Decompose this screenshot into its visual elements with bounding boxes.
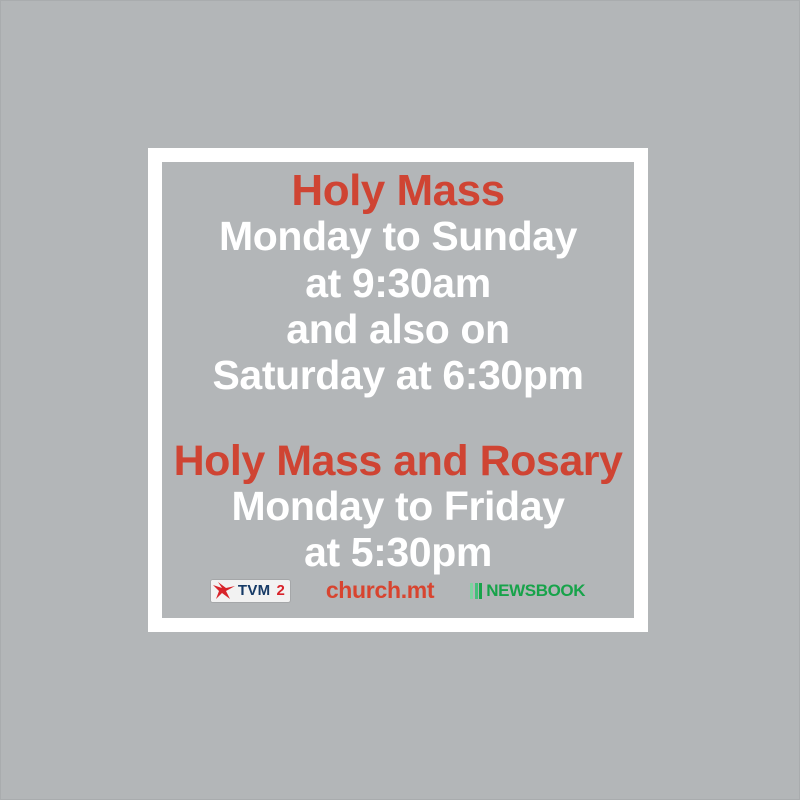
holy-mass-line-2: at 9:30am <box>162 260 634 306</box>
holy-mass-line-1: Monday to Sunday <box>162 213 634 259</box>
section-holy-mass: Holy Mass Monday to Sunday at 9:30am and… <box>162 168 634 399</box>
rosary-line-1: Monday to Friday <box>162 483 634 529</box>
section-heading-holy-mass: Holy Mass <box>162 168 634 213</box>
tvm-star-icon <box>211 580 237 602</box>
tvm-2-logo[interactable]: TVM 2 <box>211 580 290 602</box>
tvm-channel-number: 2 <box>273 580 289 602</box>
holy-mass-line-4: Saturday at 6:30pm <box>162 352 634 398</box>
logo-strip: TVM 2 church.mt NEWSBOOK <box>162 579 634 602</box>
poster-content: Holy Mass Monday to Sunday at 9:30am and… <box>162 162 634 618</box>
rosary-line-2: at 5:30pm <box>162 529 634 575</box>
section-holy-mass-and-rosary: Holy Mass and Rosary Monday to Friday at… <box>162 439 634 576</box>
tvm-wordmark: TVM <box>237 580 274 602</box>
newsbook-wordmark: NEWSBOOK <box>486 582 585 599</box>
newsbook-bars-icon <box>470 583 482 599</box>
mass-schedule-poster: Holy Mass Monday to Sunday at 9:30am and… <box>0 0 800 800</box>
holy-mass-line-3: and also on <box>162 306 634 352</box>
newsbook-logo[interactable]: NEWSBOOK <box>470 582 585 599</box>
white-border-frame: Holy Mass Monday to Sunday at 9:30am and… <box>148 148 648 632</box>
section-heading-holy-mass-and-rosary: Holy Mass and Rosary <box>162 439 634 483</box>
church-mt-logo[interactable]: church.mt <box>326 579 434 602</box>
